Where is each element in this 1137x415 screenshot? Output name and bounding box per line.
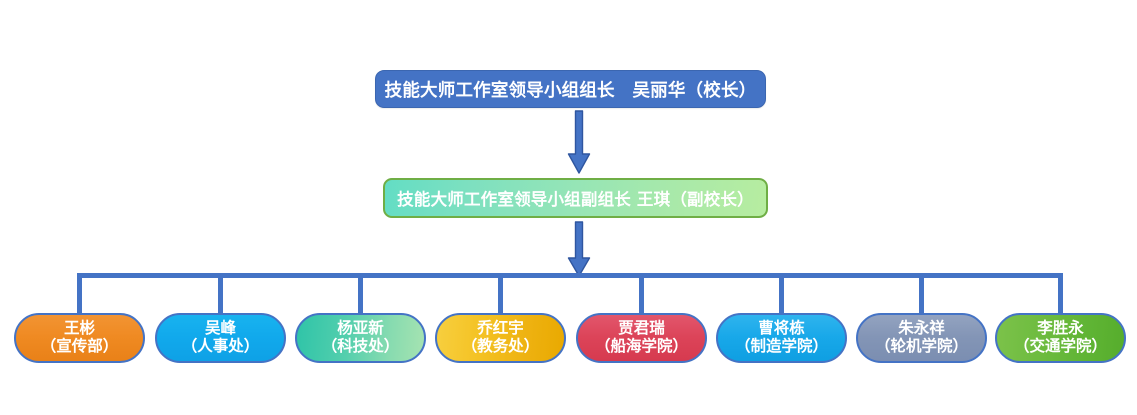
org-node-member-7-person: 朱永祥 — [898, 320, 945, 338]
connector-stem-2 — [218, 273, 223, 315]
org-node-member-5-dept: （船海学院） — [595, 338, 688, 356]
org-node-member-5[interactable]: 贾君瑞 （船海学院） — [576, 313, 707, 363]
connector-stem-6 — [779, 273, 784, 315]
org-node-member-7[interactable]: 朱永祥 （轮机学院） — [856, 313, 987, 363]
org-chart-canvas: 技能大师工作室领导小组组长 吴丽华（校长） 技能大师工作室领导小组副组长 王琪（… — [0, 0, 1137, 415]
org-node-member-5-person: 贾君瑞 — [618, 320, 665, 338]
org-node-member-2-dept: （人事处） — [182, 338, 260, 356]
org-node-member-1-dept: （宣传部） — [41, 338, 119, 356]
org-node-member-7-dept: （轮机学院） — [875, 338, 968, 356]
org-node-member-3-dept: （科技处） — [322, 338, 400, 356]
org-node-member-6-dept: （制造学院） — [735, 338, 828, 356]
connector-horizontal-bar — [77, 273, 1060, 278]
org-node-member-1[interactable]: 王彬 （宣传部） — [14, 313, 145, 363]
org-node-deputy-leader-label: 技能大师工作室领导小组副组长 王琪（副校长） — [397, 186, 754, 210]
org-node-member-3[interactable]: 杨亚新 （科技处） — [295, 313, 426, 363]
org-node-group-leader[interactable]: 技能大师工作室领导小组组长 吴丽华（校长） — [375, 70, 766, 108]
org-node-member-6-person: 曹将栋 — [758, 320, 805, 338]
org-node-group-leader-label: 技能大师工作室领导小组组长 吴丽华（校长） — [385, 77, 757, 102]
org-node-member-8-dept: （交通学院） — [1014, 338, 1107, 356]
org-node-member-2-person: 吴峰 — [205, 320, 236, 338]
arrow-leader-to-deputy — [566, 110, 592, 176]
org-node-member-4[interactable]: 乔红宇 （教务处） — [435, 313, 566, 363]
org-node-member-2[interactable]: 吴峰 （人事处） — [155, 313, 286, 363]
connector-stem-3 — [358, 273, 363, 315]
org-node-deputy-leader[interactable]: 技能大师工作室领导小组副组长 王琪（副校长） — [383, 178, 768, 218]
connector-stem-4 — [498, 273, 503, 315]
org-node-member-4-dept: （教务处） — [462, 338, 540, 356]
org-node-member-6[interactable]: 曹将栋 （制造学院） — [716, 313, 847, 363]
connector-stem-5 — [639, 273, 644, 315]
arrow-deputy-to-members — [566, 221, 592, 279]
org-node-member-4-person: 乔红宇 — [477, 320, 524, 338]
org-node-member-8[interactable]: 李胜永 （交通学院） — [995, 313, 1126, 363]
connector-stem-8 — [1058, 273, 1063, 315]
connector-stem-7 — [919, 273, 924, 315]
connector-stem-1 — [77, 273, 82, 315]
org-node-member-3-person: 杨亚新 — [337, 320, 384, 338]
org-node-member-8-person: 李胜永 — [1037, 320, 1084, 338]
org-node-member-1-person: 王彬 — [64, 320, 95, 338]
